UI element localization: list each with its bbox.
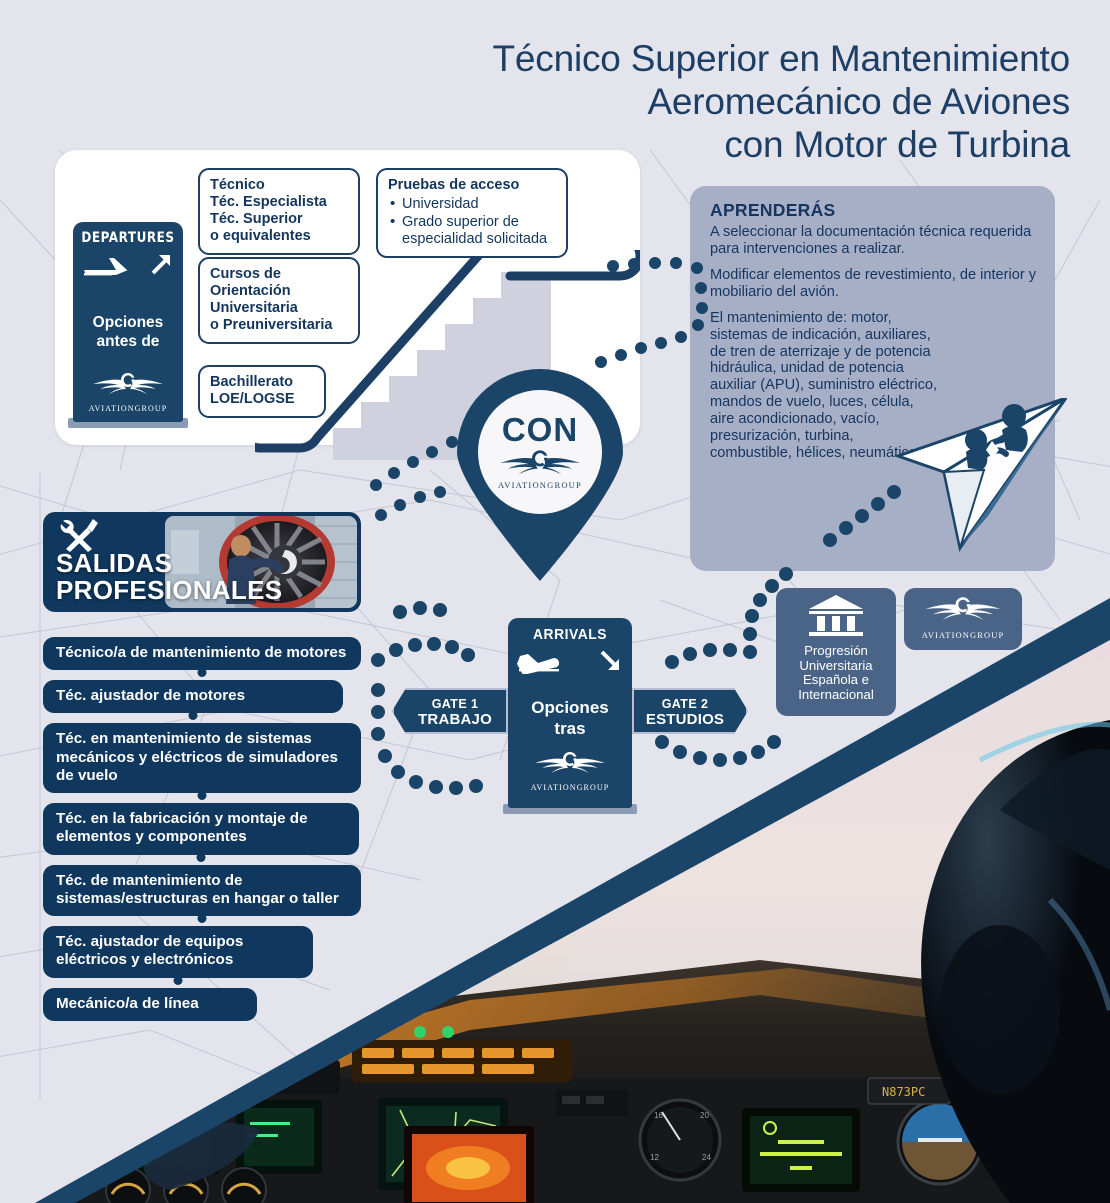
- aviationgroup-wordmark: AVIATIONGROUP: [904, 630, 1022, 640]
- salidas-list: Técnico/a de mantenimiento de motores Té…: [43, 637, 373, 1031]
- gate-1-trabajo[interactable]: GATE 1 TRABAJO: [392, 688, 508, 734]
- departures-caption: Opciones antes de: [73, 313, 183, 352]
- aprenderas-heading: APRENDERÁS: [710, 200, 1037, 221]
- entry-line: Universitaria: [210, 300, 349, 317]
- entry-line: Téc. Especialista: [210, 194, 349, 211]
- infographic-canvas: 1620 1224 N873PC: [0, 0, 1110, 1203]
- list-item[interactable]: Téc. de mantenimiento de sistemas/estruc…: [43, 865, 361, 916]
- progresion-text: Progresión Universitaria Española e Inte…: [776, 644, 896, 702]
- arrivals-caption: Opciones tras: [508, 698, 632, 739]
- airplane-takeoff-icon: [82, 251, 128, 277]
- svg-text:24: 24: [702, 1153, 711, 1162]
- departures-label: DEPARTURES: [77, 230, 178, 246]
- pruebas-de-acceso-box: Pruebas de acceso Universidad Grado supe…: [376, 168, 568, 258]
- entry-box-bachillerato: Bachillerato LOE/LOGSE: [198, 365, 326, 418]
- title-line-2: Aeromecánico de Aviones: [300, 81, 1070, 124]
- gate-2-estudios[interactable]: GATE 2 ESTUDIOS: [632, 688, 748, 734]
- departures-caption-line-1: Opciones: [73, 313, 183, 332]
- tools-wrench-screwdriver-icon: [57, 518, 101, 552]
- page-title: Técnico Superior en Mantenimiento Aerome…: [300, 38, 1070, 167]
- svg-text:12: 12: [650, 1153, 659, 1162]
- pruebas-item: Universidad: [388, 196, 557, 213]
- entry-box-tecnico: Técnico Téc. Especialista Téc. Superior …: [198, 168, 360, 255]
- con-location-pin: [455, 368, 625, 583]
- aprenderas-paragraph: A seleccionar la documentación técnica r…: [710, 224, 1037, 258]
- aviationgroup-logo: AVIATIONGROUP: [508, 749, 632, 792]
- arrivals-label: ARRIVALS: [513, 626, 627, 643]
- entry-line: o Preuniversitaria: [210, 317, 349, 334]
- gate-number: GATE 2: [638, 697, 742, 711]
- aprenderas-paragraph: Modificar elementos de revestimiento, de…: [710, 267, 1037, 301]
- aviationgroup-wordmark: AVIATIONGROUP: [508, 783, 632, 792]
- entry-line: Bachillerato: [210, 374, 315, 391]
- aviationgroup-brand-box: AVIATIONGROUP: [904, 588, 1022, 650]
- salidas-heading-line-2: PROFESIONALES: [56, 577, 282, 604]
- title-line-3: con Motor de Turbina: [300, 124, 1070, 167]
- departures-caption-line-2: antes de: [73, 332, 183, 351]
- arrivals-caption-line-2: tras: [508, 719, 632, 740]
- list-item[interactable]: Téc. en mantenimiento de sistemas mecáni…: [43, 723, 361, 793]
- progresion-line: Española e: [776, 673, 896, 688]
- pruebas-heading: Pruebas de acceso: [388, 177, 557, 194]
- pruebas-item: Grado superior de especialidad solicitad…: [388, 214, 557, 248]
- list-item[interactable]: Téc. ajustador de equipos eléctricos y e…: [43, 926, 313, 977]
- svg-text:20: 20: [700, 1111, 709, 1120]
- airplane-landing-icon: [517, 648, 569, 674]
- entry-line: Técnico: [210, 177, 349, 194]
- salidas-heading: SALIDAS PROFESIONALES: [56, 550, 282, 603]
- arrow-up-right-icon: [148, 251, 174, 277]
- progresion-line: Progresión: [776, 644, 896, 659]
- svg-text:N873PC: N873PC: [882, 1085, 925, 1099]
- entry-line: LOE/LOGSE: [210, 391, 315, 408]
- title-line-1: Técnico Superior en Mantenimiento: [300, 38, 1070, 81]
- gate-label: ESTUDIOS: [638, 711, 742, 728]
- entry-line: Orientación: [210, 283, 349, 300]
- aviationgroup-wordmark: AVIATIONGROUP: [73, 404, 183, 413]
- departures-sign: DEPARTURES Opciones antes de: [73, 222, 183, 422]
- arrow-down-right-icon: [597, 648, 623, 674]
- gate-label: TRABAJO: [398, 711, 502, 728]
- entry-line: Téc. Superior: [210, 211, 349, 228]
- entry-line: o equivalentes: [210, 228, 349, 245]
- salidas-profesionales-header: SALIDAS PROFESIONALES: [43, 512, 361, 612]
- list-item[interactable]: Téc. en la fabricación y montaje de elem…: [43, 803, 359, 854]
- list-item[interactable]: Mecánico/a de línea: [43, 988, 257, 1021]
- svg-text:16: 16: [654, 1111, 663, 1120]
- entry-box-cursos: Cursos de Orientación Universitaria o Pr…: [198, 257, 360, 344]
- gate-number: GATE 1: [398, 697, 502, 711]
- progresion-line: Universitaria: [776, 659, 896, 674]
- arrivals-caption-line-1: Opciones: [508, 698, 632, 719]
- progresion-line: Internacional: [776, 688, 896, 703]
- aviationgroup-logo: AVIATIONGROUP: [73, 370, 183, 413]
- aviationgroup-wings-icon: [90, 370, 166, 398]
- entry-line: Cursos de: [210, 266, 349, 283]
- list-item[interactable]: Téc. ajustador de motores: [43, 680, 343, 713]
- paper-plane-with-people-illustration: [888, 398, 1068, 553]
- aviationgroup-wings-icon: [530, 749, 610, 777]
- list-item[interactable]: Técnico/a de mantenimiento de motores: [43, 637, 361, 670]
- aviationgroup-wings-icon: [920, 594, 1006, 624]
- salidas-heading-line-1: SALIDAS: [56, 550, 282, 577]
- arrivals-sign: ARRIVALS Opciones tras: [508, 618, 632, 808]
- university-building-icon: [805, 593, 867, 637]
- progresion-universitaria-box: Progresión Universitaria Española e Inte…: [776, 588, 896, 716]
